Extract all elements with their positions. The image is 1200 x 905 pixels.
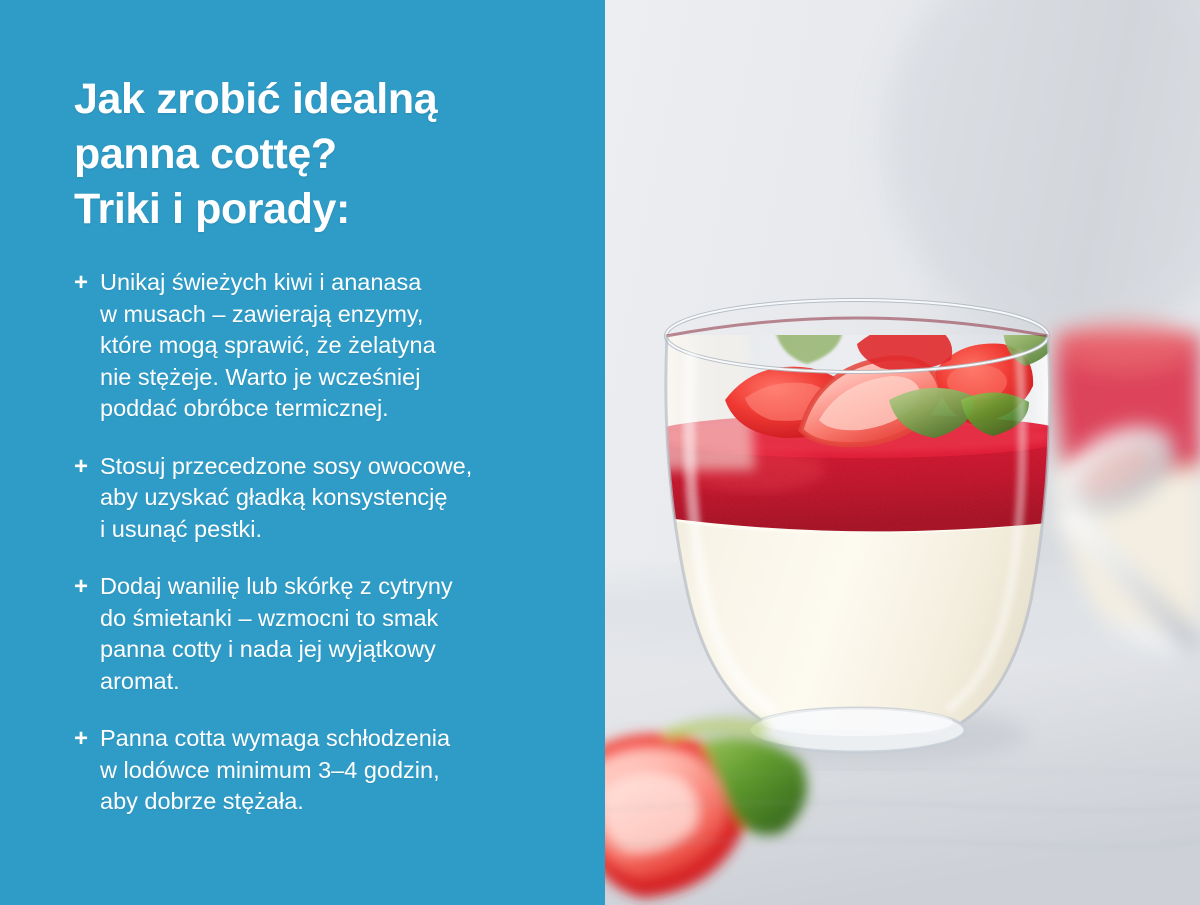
headline-line-3: Triki i porady: [74, 182, 565, 237]
plus-icon: + [74, 451, 100, 482]
tip-text: Unikaj świeżych kiwi i ananasa w musach … [100, 267, 436, 425]
plus-icon: + [74, 571, 100, 602]
tip-text: Dodaj wanilię lub skórkę z cytryny do śm… [100, 571, 453, 697]
tip-text: Panna cotta wymaga schłodzenia w lodówce… [100, 723, 450, 818]
plus-icon: + [74, 723, 100, 754]
list-item: + Stosuj przecedzone sosy owocowe, aby u… [74, 451, 565, 546]
page-title: Jak zrobić idealną panna cottę? Triki i … [74, 72, 565, 237]
headline-line-1: Jak zrobić idealną [74, 72, 565, 127]
list-item: + Panna cotta wymaga schłodzenia w lodów… [74, 723, 565, 818]
list-item: + Dodaj wanilię lub skórkę z cytryny do … [74, 571, 565, 697]
plus-icon: + [74, 267, 100, 298]
panna-cotta-photo [605, 0, 1200, 905]
tip-text: Stosuj przecedzone sosy owocowe, aby uzy… [100, 451, 472, 546]
tips-list: + Unikaj świeżych kiwi i ananasa w musac… [74, 267, 565, 818]
panna-cotta-illustration [605, 0, 1200, 905]
tips-panel: Jak zrobić idealną panna cottę? Triki i … [0, 0, 605, 905]
glass-base-highlight [761, 708, 953, 736]
recipe-tips-infographic: Jak zrobić idealną panna cottę? Triki i … [0, 0, 1200, 905]
headline-line-2: panna cottę? [74, 127, 565, 182]
list-item: + Unikaj świeżych kiwi i ananasa w musac… [74, 267, 565, 425]
